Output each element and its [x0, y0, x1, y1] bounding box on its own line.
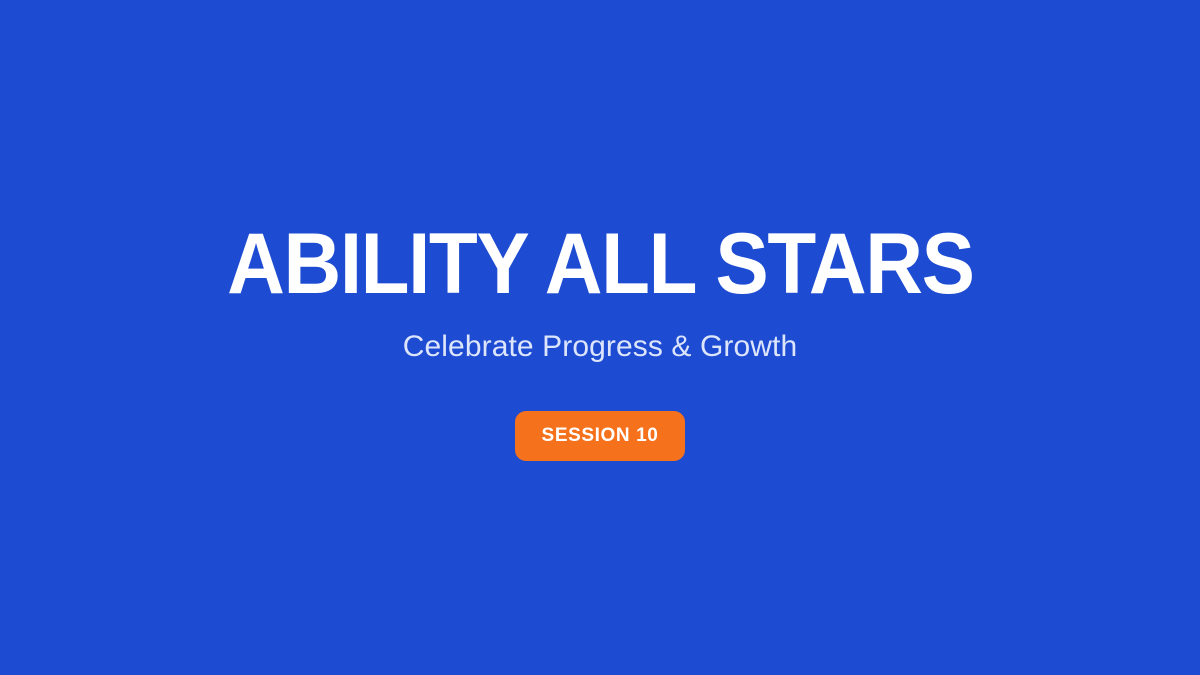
badge-container: SESSION 10	[515, 365, 685, 461]
slide-content-stack: ABILITY ALL STARS Celebrate Progress & G…	[0, 0, 1200, 675]
title-slide: ABILITY ALL STARS Celebrate Progress & G…	[0, 0, 1200, 675]
session-badge[interactable]: SESSION 10	[515, 411, 685, 461]
page-title: ABILITY ALL STARS	[227, 228, 973, 302]
